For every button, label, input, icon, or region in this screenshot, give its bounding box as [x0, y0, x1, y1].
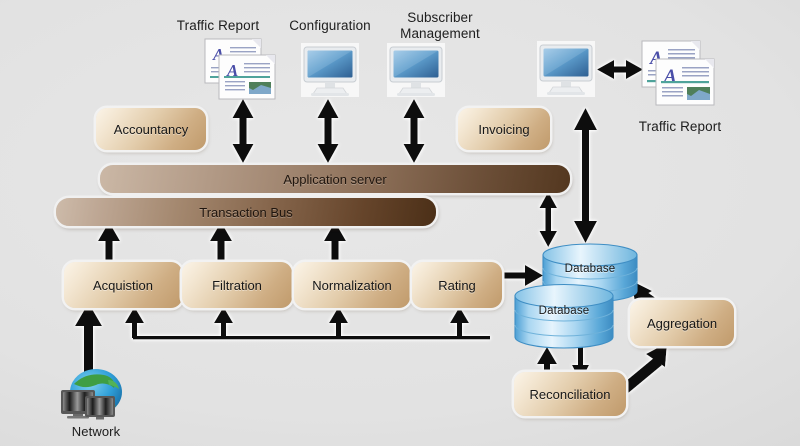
- arrow-filtration-to-bus: [210, 222, 232, 264]
- arrow-bus-to-filtration: [214, 307, 233, 338]
- bar-application-server-label: Application server: [283, 172, 386, 187]
- arrow-monitor-to-database: [574, 108, 597, 243]
- service-box-invoicing[interactable]: Invoicing: [458, 108, 550, 150]
- pipeline-box-rating-label: Rating: [438, 278, 476, 293]
- monitor-icon-subscriber-management[interactable]: [386, 42, 446, 98]
- pipeline-box-acquistion-label: Acquistion: [93, 278, 153, 293]
- arrow-monitor-to-traffic-report: [597, 60, 643, 79]
- arrow-network-to-acquistion: [75, 303, 102, 372]
- bar-application-server[interactable]: Application server: [100, 165, 570, 193]
- pipeline-box-normalization[interactable]: Normalization: [294, 262, 410, 308]
- arrow-subscriber-to-app-server: [404, 99, 425, 163]
- arrow-bus-to-normalization: [329, 307, 348, 338]
- bar-transaction-bus[interactable]: Transaction Bus: [56, 198, 436, 226]
- service-box-accountancy[interactable]: Accountancy: [96, 108, 206, 150]
- pipeline-box-normalization-label: Normalization: [312, 278, 391, 293]
- box-reconciliation[interactable]: Reconciliation: [514, 372, 626, 416]
- source-bus-line: [133, 336, 490, 339]
- box-aggregation[interactable]: Aggregation: [630, 300, 734, 346]
- pipeline-box-acquistion[interactable]: Acquistion: [64, 262, 182, 308]
- arrow-configuration-to-app-server: [318, 99, 339, 163]
- label-configuration: Configuration: [282, 18, 378, 34]
- database-cylinder-lower[interactable]: Database: [512, 283, 616, 353]
- box-aggregation-label: Aggregation: [647, 316, 717, 331]
- document-stack-icon[interactable]: A A: [203, 38, 281, 100]
- arrow-normalization-to-bus: [324, 222, 346, 264]
- network-globe-icon[interactable]: [52, 366, 132, 422]
- label-traffic-report-right: Traffic Report: [624, 119, 736, 135]
- arrow-app-server-to-database: [540, 192, 558, 247]
- box-reconciliation-label: Reconciliation: [530, 387, 611, 402]
- bar-transaction-bus-label: Transaction Bus: [199, 205, 292, 220]
- arrow-reconciliation-to-aggregation: [620, 343, 667, 394]
- pipeline-box-filtration-label: Filtration: [212, 278, 262, 293]
- svg-text:A: A: [663, 66, 677, 87]
- arrow-bus-to-rating: [450, 307, 469, 338]
- label-subscriber-management: Subscriber Management: [386, 10, 494, 43]
- label-traffic-report-top-left: Traffic Report: [170, 18, 266, 34]
- arrow-acquistion-to-bus: [98, 222, 120, 264]
- monitor-icon-configuration[interactable]: [300, 42, 360, 98]
- arrow-bus-to-acquistion: [125, 307, 144, 338]
- label-network: Network: [56, 424, 136, 440]
- service-box-invoicing-label: Invoicing: [478, 122, 529, 137]
- document-stack-icon-right[interactable]: A A: [640, 40, 720, 108]
- pipeline-box-rating[interactable]: Rating: [412, 262, 502, 308]
- arrow-traffic-report-to-app-server: [233, 99, 254, 163]
- database-cylinder-lower-label: Database: [512, 305, 616, 317]
- architecture-diagram: Traffic Report Configuration Subscriber …: [0, 0, 800, 446]
- service-box-accountancy-label: Accountancy: [114, 122, 188, 137]
- pipeline-box-filtration[interactable]: Filtration: [182, 262, 292, 308]
- monitor-icon-invoicing[interactable]: [536, 40, 596, 103]
- database-cylinder-upper-label: Database: [540, 263, 640, 275]
